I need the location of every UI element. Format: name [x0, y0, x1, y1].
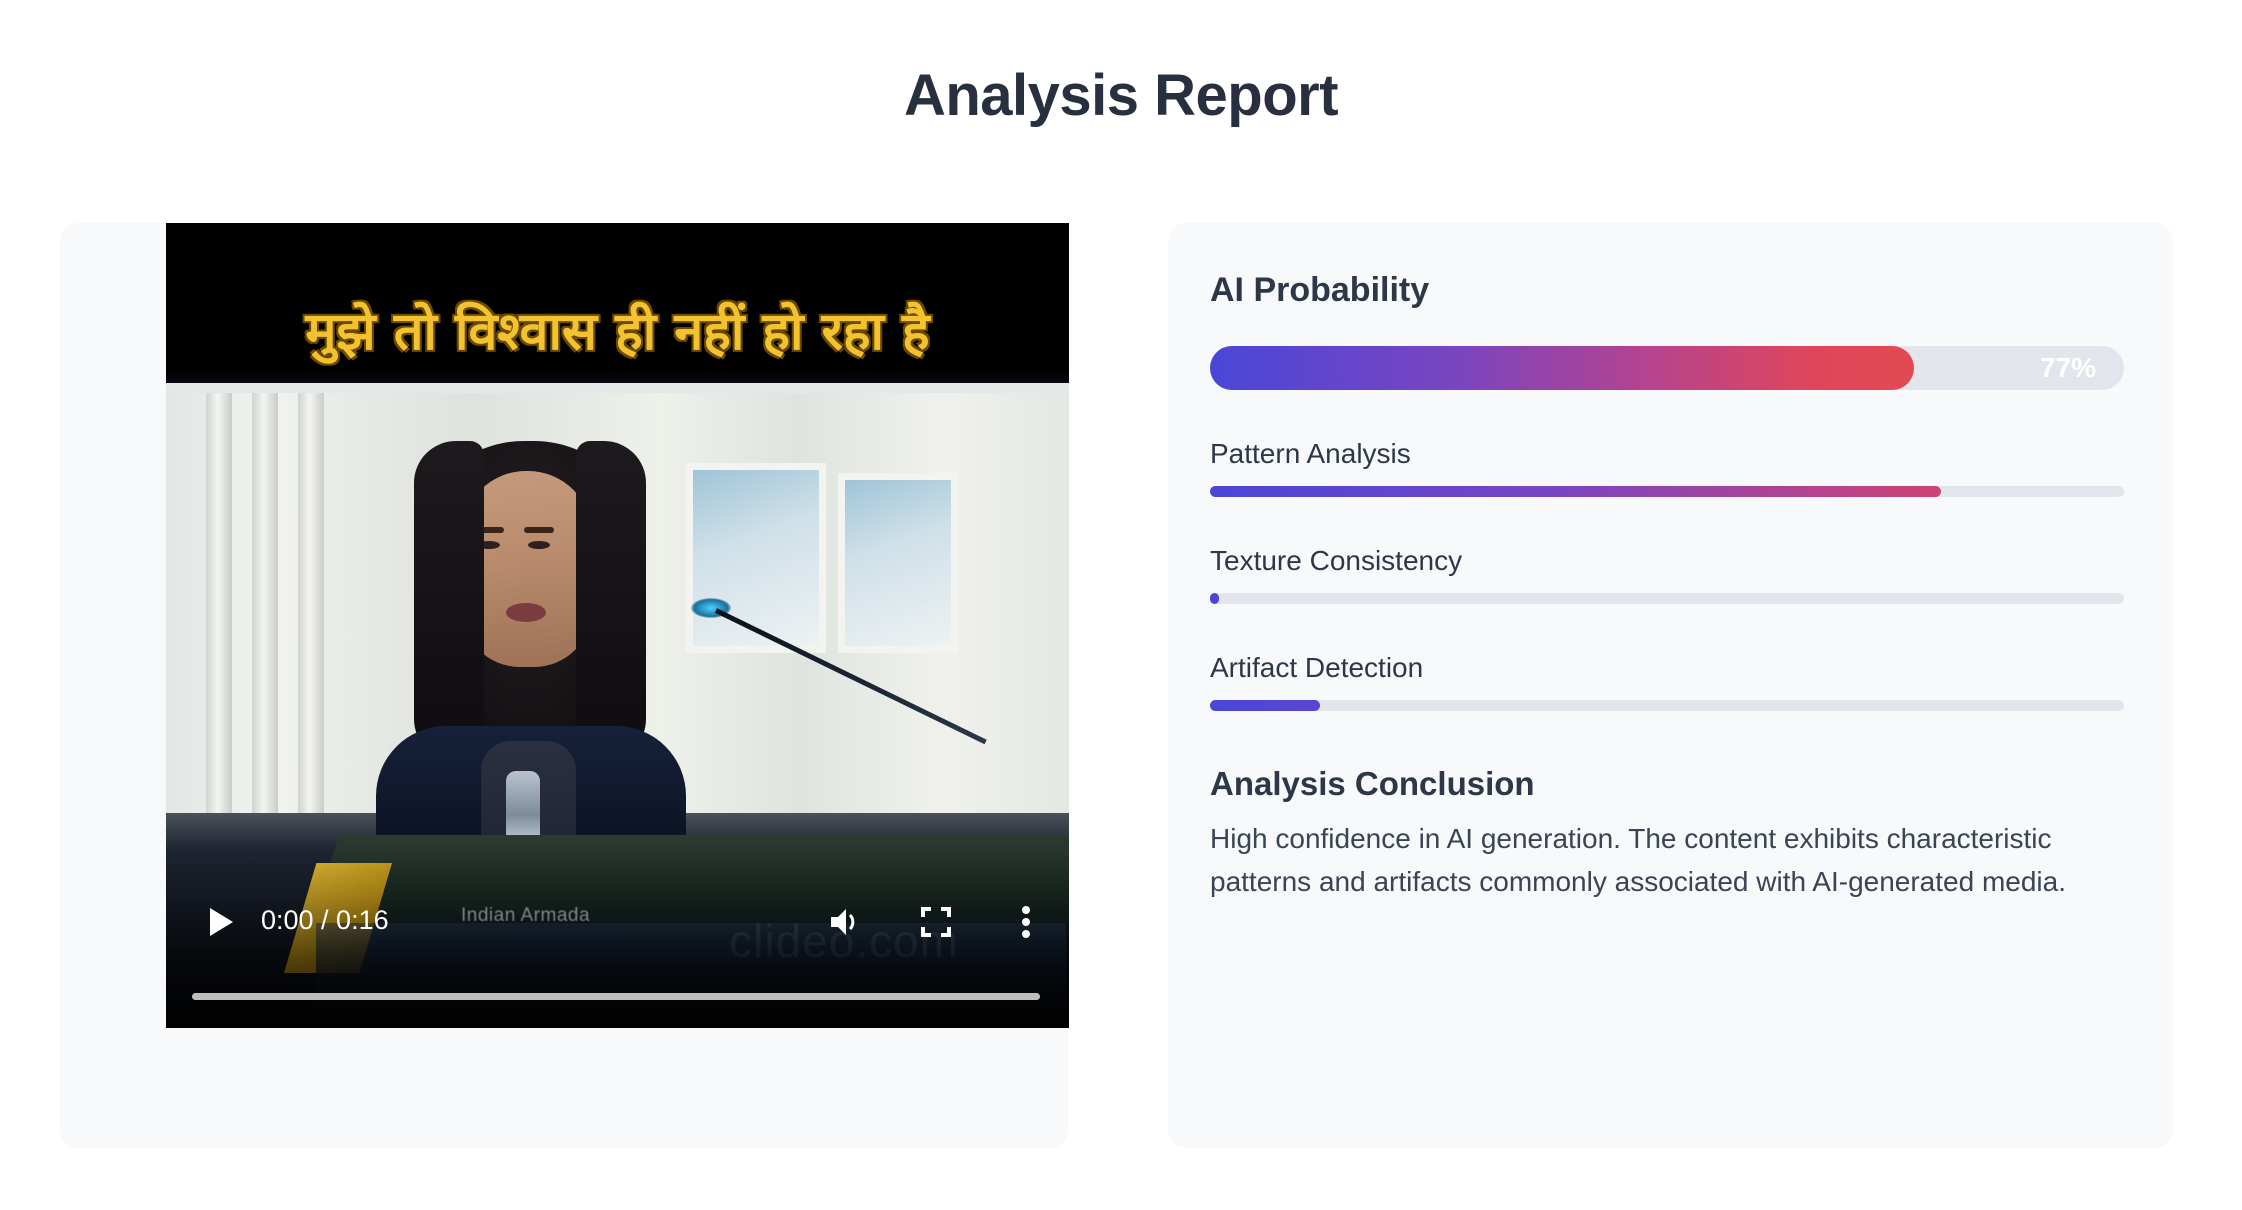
content-area: Indian Armada मुझे तो विश्वास ही नहीं हो… — [0, 223, 2242, 1153]
volume-icon — [829, 907, 863, 937]
play-button[interactable] — [200, 901, 242, 943]
play-icon — [208, 907, 234, 937]
metric-label: Texture Consistency — [1210, 545, 2131, 577]
metric-fill — [1210, 700, 1320, 711]
metric-track — [1210, 486, 2124, 497]
fullscreen-button[interactable] — [913, 899, 959, 945]
video-controls-right — [823, 899, 1049, 945]
metric-track — [1210, 593, 2124, 604]
wall-column — [206, 393, 232, 813]
speaker-figure — [366, 441, 696, 871]
window-pane — [838, 473, 958, 653]
conclusion-title: Analysis Conclusion — [1210, 765, 2131, 803]
speaker-eyebrow — [524, 527, 554, 533]
window-pane — [686, 463, 826, 653]
metric-label: Pattern Analysis — [1210, 438, 2131, 470]
speaker-eye — [528, 541, 550, 549]
speaker-mouth — [506, 603, 546, 622]
metric-texture-consistency: Texture Consistency — [1210, 545, 2131, 604]
metric-label: Artifact Detection — [1210, 652, 2131, 684]
ai-probability-fill — [1210, 346, 1914, 390]
volume-button[interactable] — [823, 899, 869, 945]
metric-pattern-analysis: Pattern Analysis — [1210, 438, 2131, 497]
subtitle-band-edge — [166, 371, 1069, 383]
kebab-menu-icon — [1021, 905, 1031, 939]
ai-probability-label: AI Probability — [1210, 271, 2131, 310]
metric-fill — [1210, 593, 1219, 604]
fullscreen-icon — [921, 907, 951, 937]
metric-track — [1210, 700, 2124, 711]
ai-probability-bar: 77% — [1210, 346, 2124, 390]
wall-column — [252, 393, 278, 813]
speaker-hair-front — [576, 441, 646, 761]
analysis-report-page: Analysis Report — [0, 0, 2242, 1210]
seek-bar[interactable] — [192, 993, 1040, 1000]
subtitle-text: मुझे तो विश्वास ही नहीं हो रहा है — [166, 223, 1069, 371]
page-title: Analysis Report — [0, 62, 2242, 129]
speaker-hair-front — [414, 441, 484, 761]
report-card: AI Probability 77% Pattern Analysis Text… — [1168, 223, 2173, 1148]
ai-probability-value: 77% — [2040, 352, 2096, 384]
video-card: Indian Armada मुझे तो विश्वास ही नहीं हो… — [60, 223, 1068, 1148]
analysis-conclusion: Analysis Conclusion High confidence in A… — [1210, 765, 2131, 903]
seek-buffered — [192, 993, 1040, 1000]
video-controls-row: 0:00 / 0:16 — [166, 895, 1069, 949]
metric-fill — [1210, 486, 1941, 497]
conclusion-text: High confidence in AI generation. The co… — [1210, 817, 2120, 903]
time-display: 0:00 / 0:16 — [261, 905, 389, 936]
metric-artifact-detection: Artifact Detection — [1210, 652, 2131, 711]
video-controls: 0:00 / 0:16 — [166, 853, 1069, 1028]
more-options-button[interactable] — [1003, 899, 1049, 945]
wall-column — [298, 393, 324, 813]
video-player[interactable]: Indian Armada मुझे तो विश्वास ही नहीं हो… — [166, 223, 1069, 1028]
